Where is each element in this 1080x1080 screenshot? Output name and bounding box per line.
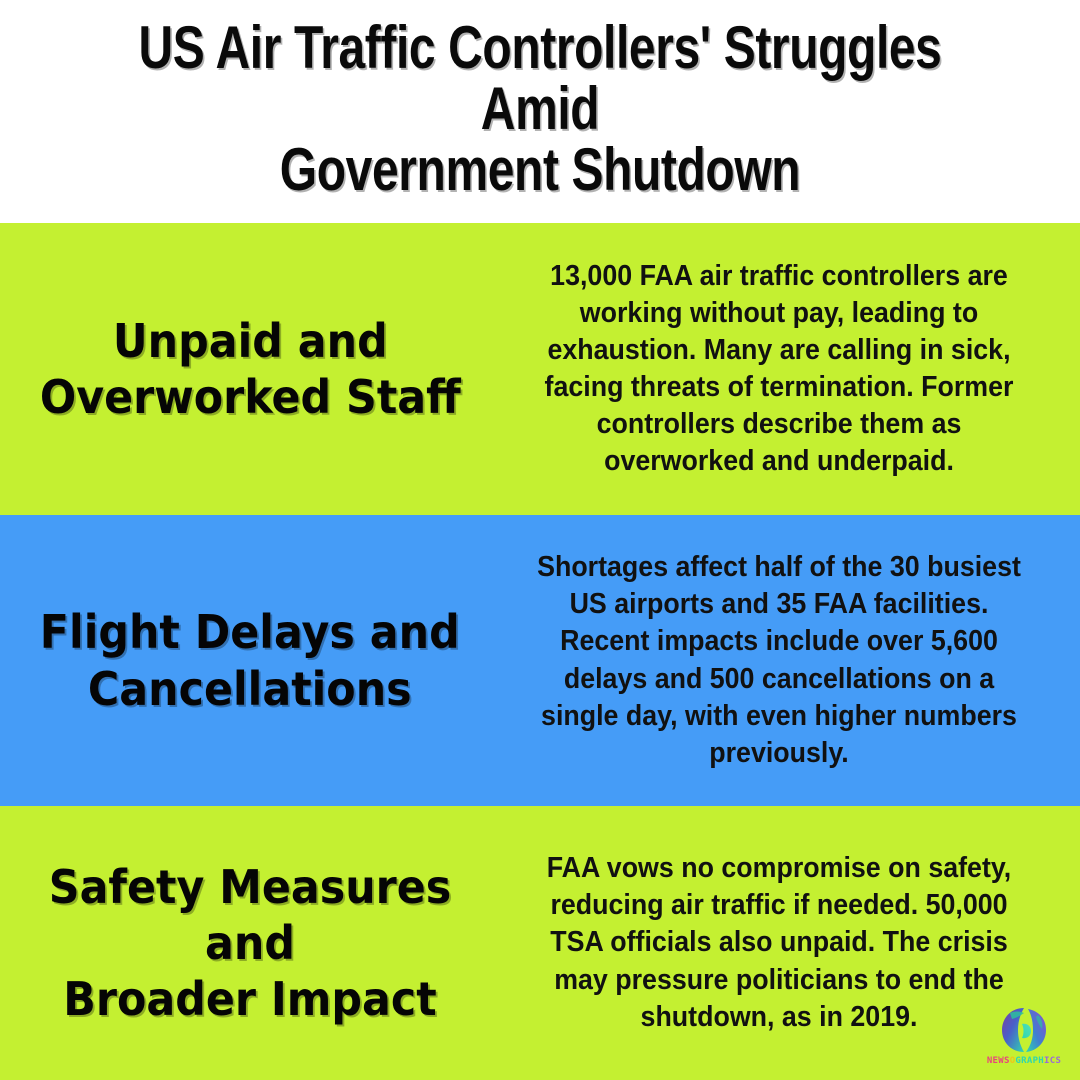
panel-body-column: Shortages affect half of the 30 busiest … xyxy=(500,549,1080,771)
logo-word-part-3: GRAPH xyxy=(1015,1056,1044,1066)
infographic-canvas: US Air Traffic Controllers' Struggles Am… xyxy=(0,0,1080,1080)
logo-word-part-4: ICS xyxy=(1044,1056,1061,1066)
panel-heading-column: Flight Delays and Cancellations xyxy=(0,604,500,716)
panel-heading: Safety Measures and Broader Impact xyxy=(38,859,462,1027)
logo-word-part-1: NEWS xyxy=(987,1056,1010,1066)
panel-body-text: 13,000 FAA air traffic controllers are w… xyxy=(528,258,1030,480)
panel-heading-column: Unpaid and Overworked Staff xyxy=(0,313,500,425)
page-title: US Air Traffic Controllers' Struggles Am… xyxy=(130,17,949,201)
panel-flight-delays-and-cancellations: Flight Delays and Cancellations Shortage… xyxy=(0,515,1080,806)
panel-safety-measures-and-broader-impact: Safety Measures and Broader Impact FAA v… xyxy=(0,806,1080,1080)
logo-wordmark: NEWSOGRAPHICS xyxy=(987,1057,1061,1066)
title-block: US Air Traffic Controllers' Struggles Am… xyxy=(0,0,1080,223)
panel-unpaid-and-overworked-staff: Unpaid and Overworked Staff 13,000 FAA a… xyxy=(0,223,1080,515)
globe-icon xyxy=(998,1005,1050,1055)
panel-heading: Flight Delays and Cancellations xyxy=(40,604,460,716)
panel-heading-column: Safety Measures and Broader Impact xyxy=(0,859,500,1027)
panel-heading: Unpaid and Overworked Staff xyxy=(40,313,461,425)
panel-body-text: FAA vows no compromise on safety, reduci… xyxy=(528,850,1030,1035)
brand-logo: NEWSOGRAPHICS xyxy=(986,994,1062,1066)
panel-body-text: Shortages affect half of the 30 busiest … xyxy=(528,549,1030,771)
panel-body-column: 13,000 FAA air traffic controllers are w… xyxy=(500,258,1080,480)
